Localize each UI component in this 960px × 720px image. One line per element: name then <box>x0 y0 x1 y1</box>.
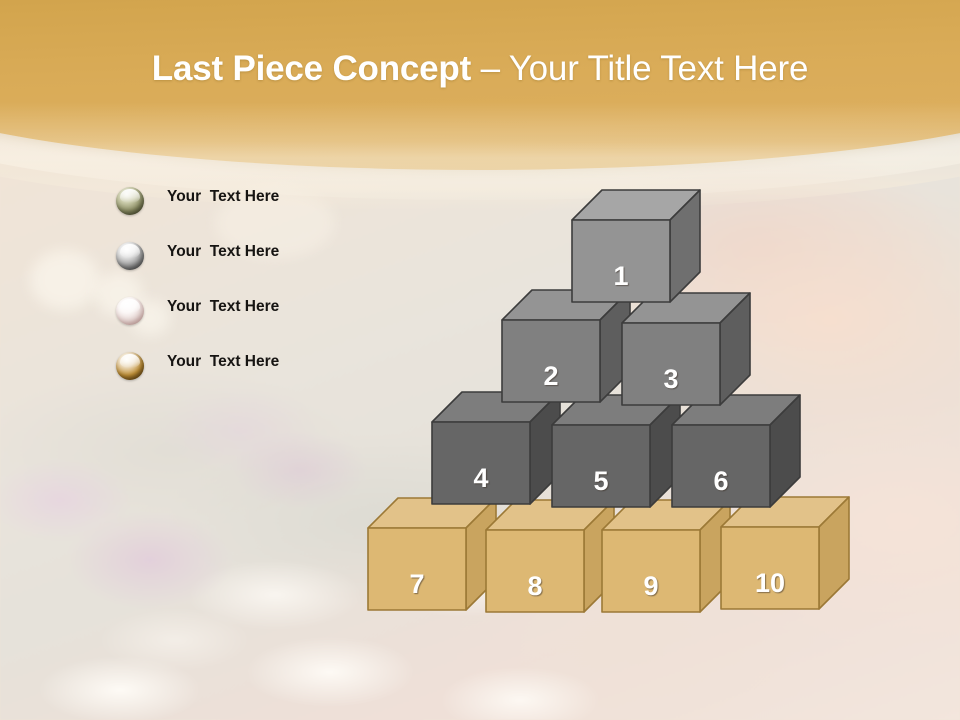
cube-10[interactable]: 10 <box>721 497 849 609</box>
cube-face-front <box>602 530 700 612</box>
cube-face-front <box>672 425 770 507</box>
cube-face-front <box>368 528 466 610</box>
cube-6[interactable]: 6 <box>672 395 800 507</box>
cube-face-front <box>572 220 670 302</box>
cube-pyramid: 78910456231 <box>0 0 960 720</box>
cube-face-front <box>721 527 819 609</box>
cube-face-front <box>622 323 720 405</box>
slide-canvas: Last Piece Concept – Your Title Text Her… <box>0 0 960 720</box>
cube-5[interactable]: 5 <box>552 395 680 507</box>
cube-face-front <box>502 320 600 402</box>
cube-face-front <box>552 425 650 507</box>
cube-face-front <box>486 530 584 612</box>
cube-1[interactable]: 1 <box>572 190 700 302</box>
cube-9[interactable]: 9 <box>602 500 730 612</box>
cube-2[interactable]: 2 <box>502 290 630 402</box>
cube-8[interactable]: 8 <box>486 500 614 612</box>
cube-7[interactable]: 7 <box>368 498 496 610</box>
cube-4[interactable]: 4 <box>432 392 560 504</box>
cube-face-front <box>432 422 530 504</box>
cube-3[interactable]: 3 <box>622 293 750 405</box>
